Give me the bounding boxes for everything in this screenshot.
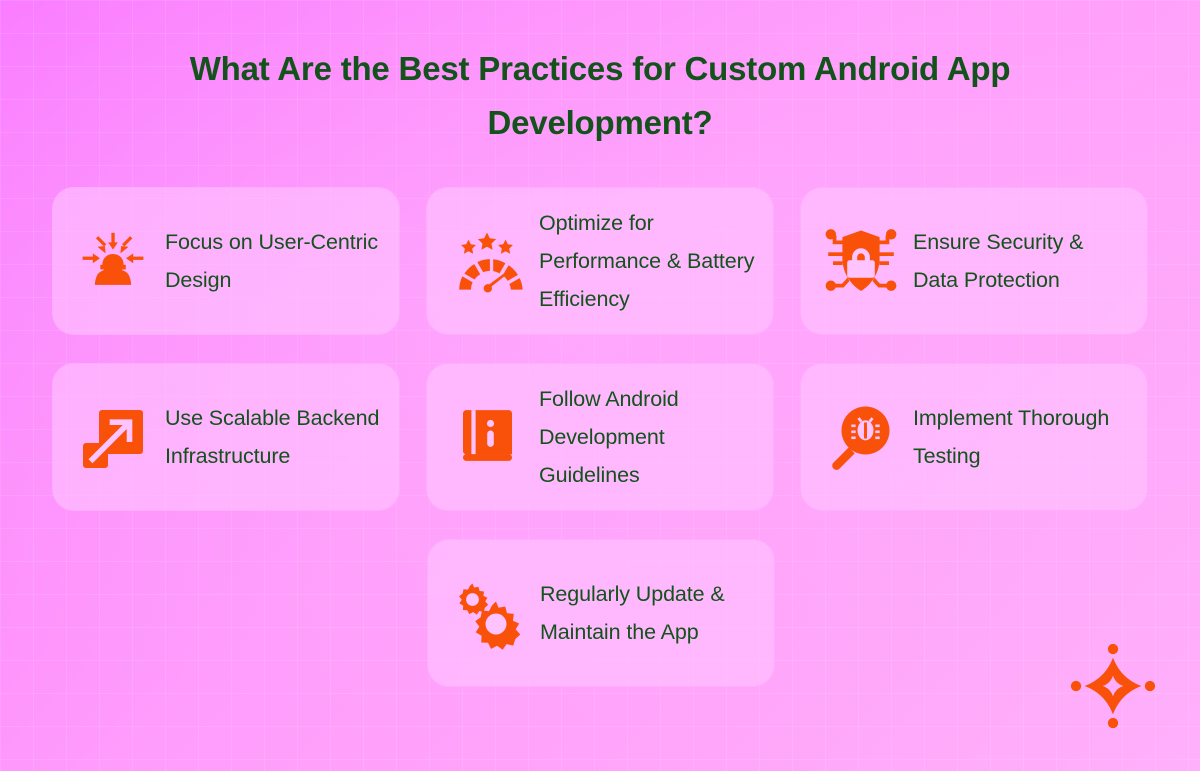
card-follow-android-development-guidelines[interactable]: Follow Android Development Guidelines: [426, 363, 774, 511]
card-row-2: Use Scalable Backend Infrastructure Foll…: [52, 363, 1150, 511]
card-row-3: Regularly Update & Maintain the App: [52, 539, 1150, 687]
card-regularly-update-maintain-the-app[interactable]: Regularly Update & Maintain the App: [427, 539, 775, 687]
card-label: Focus on User-Centric Design: [165, 223, 381, 299]
card-implement-thorough-testing[interactable]: Implement Thorough Testing: [800, 363, 1148, 511]
gears-icon: [448, 573, 528, 653]
shield-lock-circuit-icon: [821, 221, 901, 301]
card-optimize-for-performance-battery-efficiency[interactable]: Optimize for Performance & Battery Effic…: [426, 187, 774, 335]
card-label: Regularly Update & Maintain the App: [540, 575, 756, 651]
card-label: Optimize for Performance & Battery Effic…: [539, 204, 755, 318]
book-info-icon: [447, 397, 527, 477]
card-label: Implement Thorough Testing: [913, 399, 1129, 475]
scale-expand-arrow-icon: [73, 397, 153, 477]
card-label: Use Scalable Backend Infrastructure: [165, 399, 381, 475]
four-point-star-logo: [1068, 643, 1158, 729]
card-row-1: Focus on User-Centric Design: [52, 187, 1150, 335]
card-label: Follow Android Development Guidelines: [539, 380, 755, 494]
best-practices-card-grid: Focus on User-Centric Design: [52, 187, 1150, 715]
card-ensure-security-data-protection[interactable]: Ensure Security & Data Protection: [800, 187, 1148, 335]
user-focus-icon: [73, 221, 153, 301]
card-use-scalable-backend-infrastructure[interactable]: Use Scalable Backend Infrastructure: [52, 363, 400, 511]
card-label: Ensure Security & Data Protection: [913, 223, 1129, 299]
page-title: What Are the Best Practices for Custom A…: [0, 42, 1200, 150]
speedometer-stars-icon: [447, 221, 527, 301]
card-focus-on-user-centric-design[interactable]: Focus on User-Centric Design: [52, 187, 400, 335]
magnifier-bug-icon: [821, 397, 901, 477]
